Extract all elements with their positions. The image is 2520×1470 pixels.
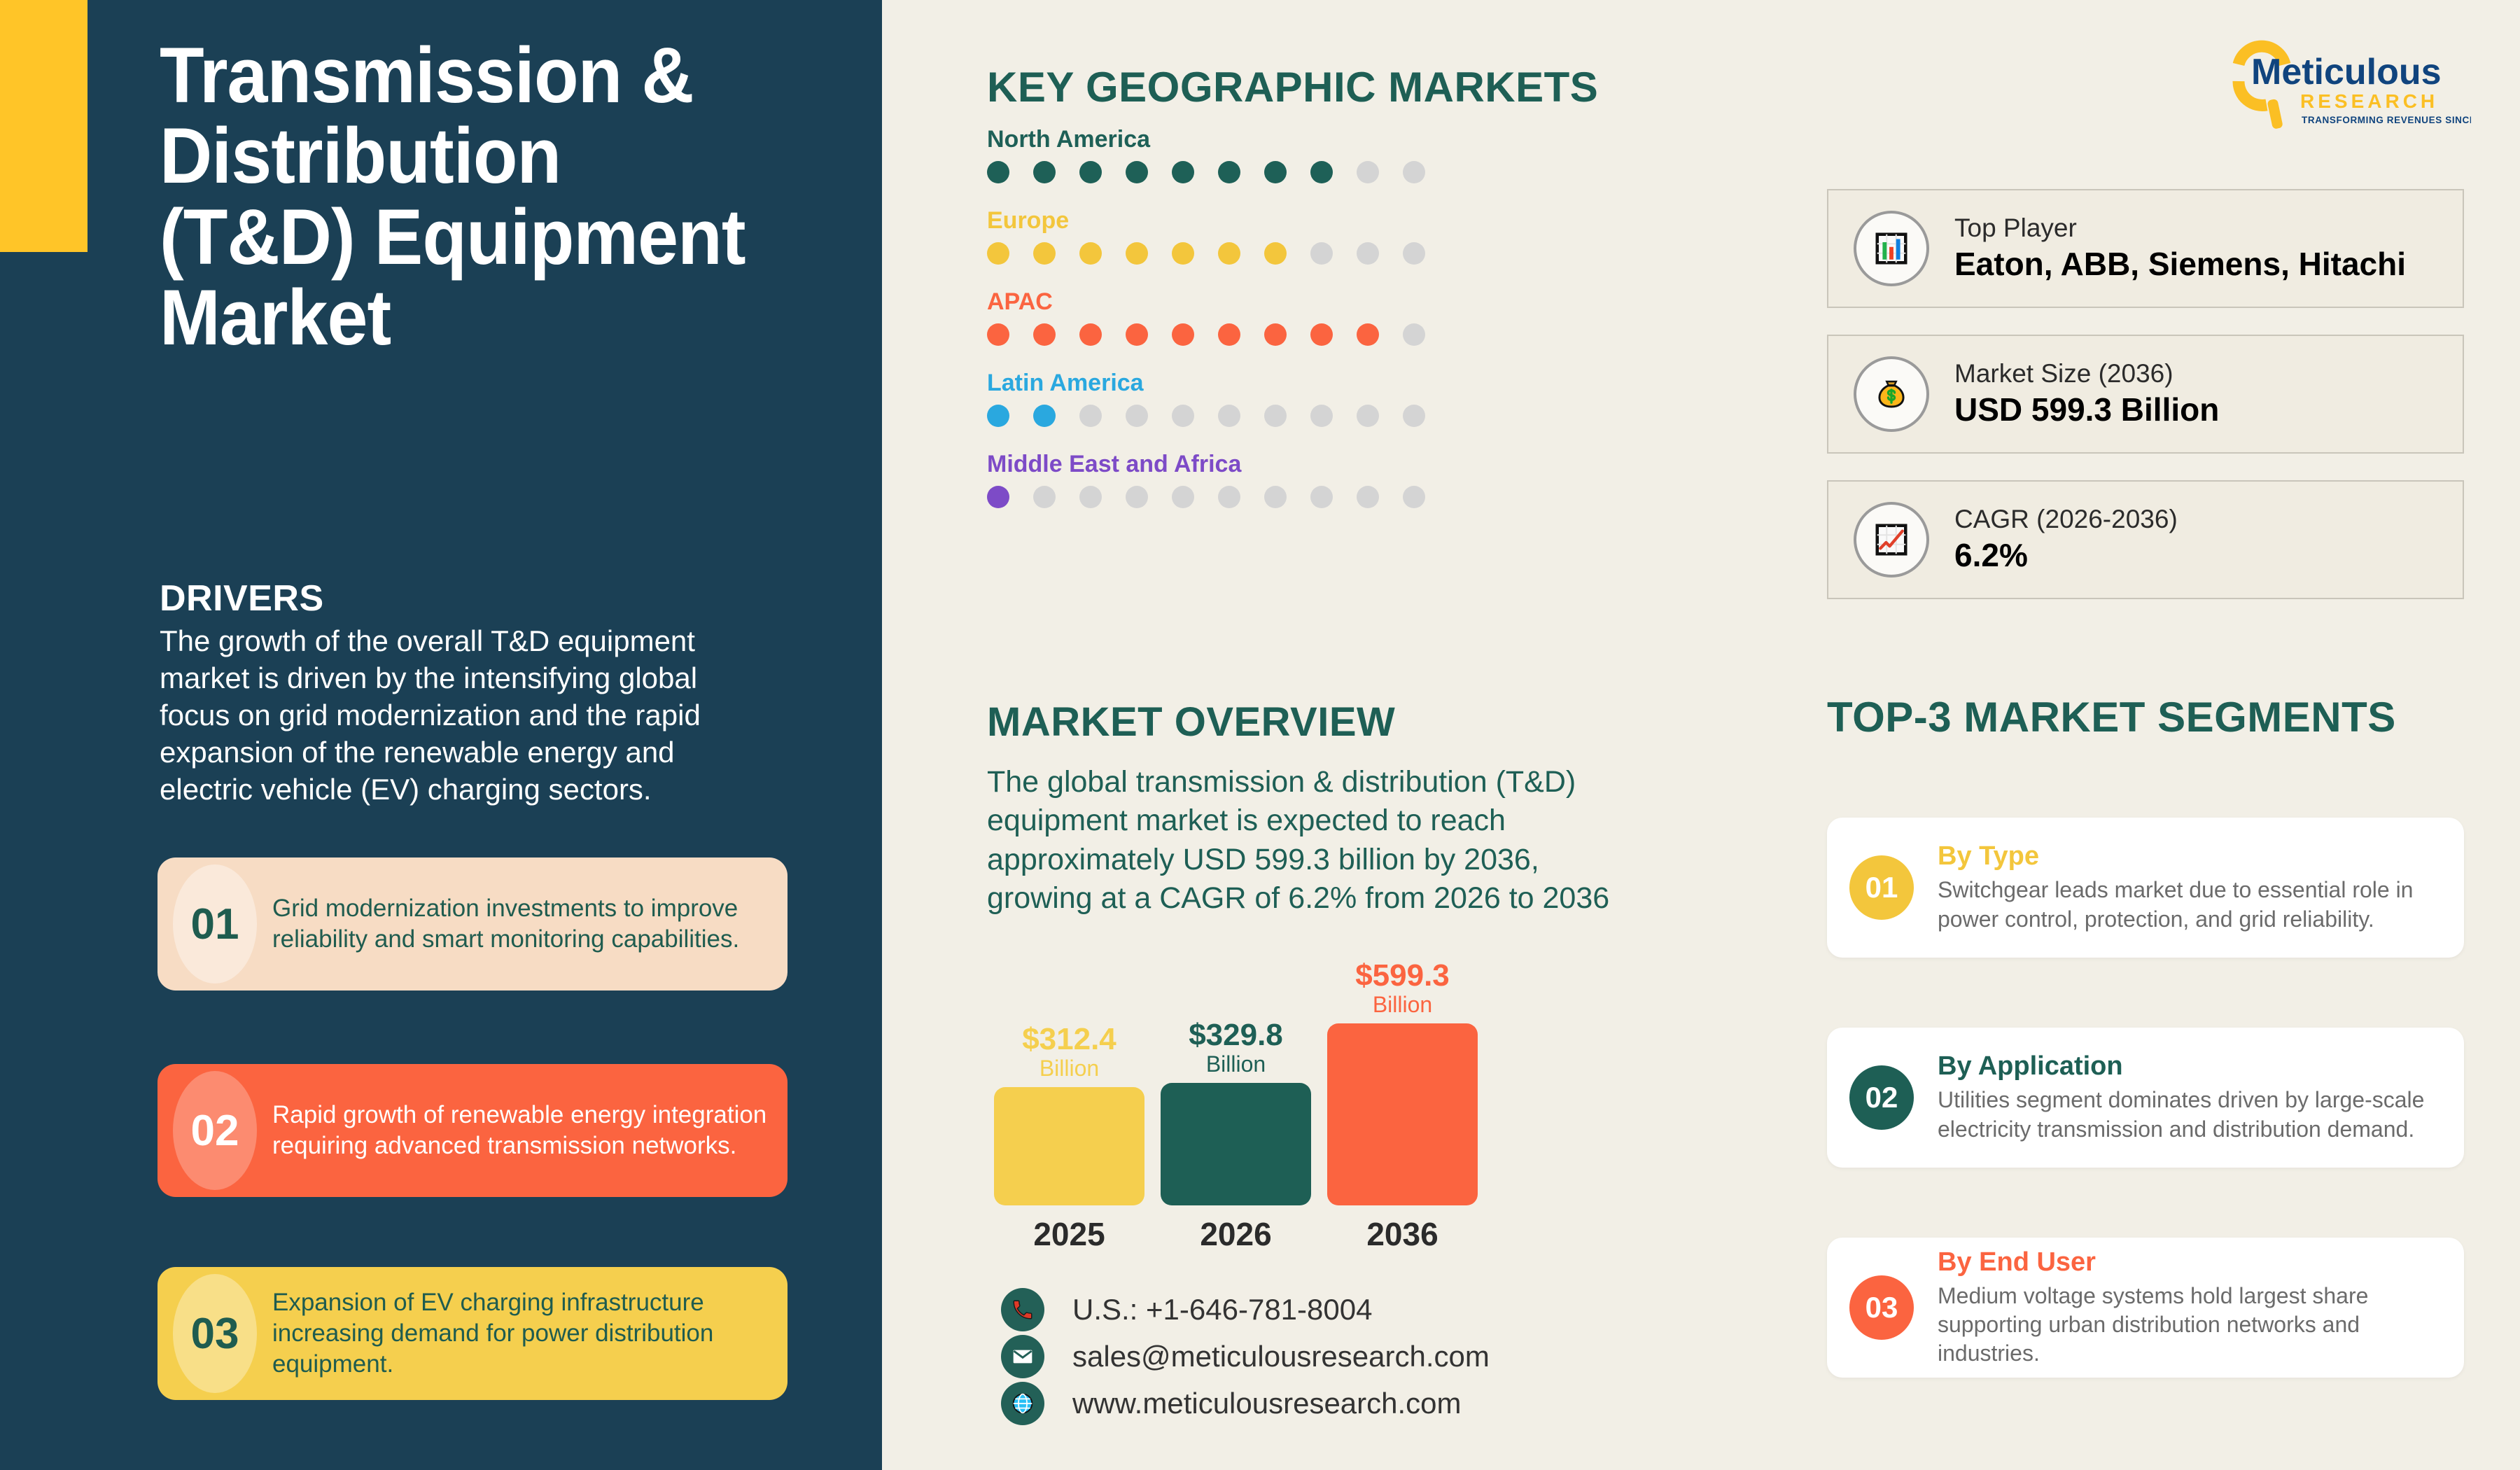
geo-dot-empty [1310,486,1333,508]
contact-text: U.S.: +1-646-781-8004 [1072,1293,1372,1326]
geo-dot-empty [1357,486,1379,508]
stat-label: CAGR (2026-2036) [1954,503,2178,535]
driver-number-badge: 02 [173,1071,257,1190]
segment-card[interactable]: 03By End UserMedium voltage systems hold… [1827,1238,2464,1378]
contact-row[interactable]: sales@meticulousresearch.com [1001,1335,1490,1378]
driver-text: Rapid growth of renewable energy integra… [257,1100,787,1161]
segments-heading: TOP-3 MARKET SEGMENTS [1827,693,2396,741]
segment-number-badge: 01 [1849,855,1914,920]
geo-dot-row [987,405,1425,427]
bar-category-label: 2036 [1327,1215,1478,1253]
geo-dot-empty [1079,405,1102,427]
segment-body: By TypeSwitchgear leads market due to es… [1938,841,2464,934]
geo-dot-filled [987,405,1009,427]
segment-card[interactable]: 01By TypeSwitchgear leads market due to … [1827,818,2464,958]
segment-body: By End UserMedium voltage systems hold l… [1938,1247,2464,1368]
geo-region-label: APAC [987,288,1425,316]
geo-region: APAC [987,288,1425,346]
geo-dot-empty [1310,242,1333,265]
geo-dot-empty [1033,486,1056,508]
bar-chart-icon [1854,211,1929,286]
driver-text: Grid modernization investments to improv… [257,893,787,955]
segment-card[interactable]: 02By ApplicationUtilities segment domina… [1827,1028,2464,1168]
driver-number-badge: 01 [173,864,257,983]
geo-dot-filled [1357,323,1379,346]
stat-label: Top Player [1954,212,2406,244]
bar-unit-label: Billion [1327,991,1478,1018]
segment-number-badge: 02 [1849,1065,1914,1130]
market-overview-text: The global transmission & distribution (… [987,763,1652,918]
geo-region: North America [987,126,1425,183]
accent-bar [0,0,87,252]
stat-card[interactable]: Top PlayerEaton, ABB, Siemens, Hitachi [1827,189,2464,308]
geo-dot-filled [1218,161,1240,183]
bar-value-label: $329.8 [1161,1020,1311,1051]
geo-dot-empty [1357,242,1379,265]
segment-description: Medium voltage systems hold largest shar… [1938,1282,2443,1368]
stat-card[interactable]: Market Size (2036)USD 599.3 Billion [1827,335,2464,454]
geo-region-label: Middle East and Africa [987,451,1425,478]
bar-unit-label: Billion [994,1055,1144,1081]
driver-text: Expansion of EV charging infrastructure … [257,1287,787,1380]
geo-dot-filled [1126,323,1148,346]
segment-description: Utilities segment dominates driven by la… [1938,1086,2443,1144]
stat-body: Market Size (2036)USD 599.3 Billion [1954,358,2219,430]
geo-dot-empty [1403,323,1425,346]
bar-category-label: 2025 [994,1215,1144,1253]
geo-dot-filled [1033,161,1056,183]
segment-description: Switchgear leads market due to essential… [1938,876,2443,934]
contact-text: www.meticulousresearch.com [1072,1387,1462,1420]
geo-dot-empty [1172,486,1194,508]
driver-card[interactable]: 02 Rapid growth of renewable energy inte… [157,1064,787,1197]
drivers-heading: DRIVERS [160,577,324,619]
geo-dot-filled [1079,323,1102,346]
contact-row[interactable]: www.meticulousresearch.com [1001,1382,1462,1425]
contact-row[interactable]: U.S.: +1-646-781-8004 [1001,1288,1372,1331]
geo-dot-row [987,486,1425,508]
market-size-bar-chart: $312.4Billion2025$329.8Billion2026$599.3… [994,931,1512,1260]
geo-dot-empty [1403,242,1425,265]
geo-dot-filled [1310,323,1333,346]
geo-dot-filled [1172,242,1194,265]
geo-region: Latin America [987,370,1425,427]
segment-body: By ApplicationUtilities segment dominate… [1938,1051,2464,1144]
stat-value: Eaton, ABB, Siemens, Hitachi [1954,244,2406,285]
geo-dot-filled [1172,323,1194,346]
stat-body: Top PlayerEaton, ABB, Siemens, Hitachi [1954,212,2406,285]
page-title: Transmission & Distribution (T&D) Equipm… [160,35,745,358]
segment-number-badge: 03 [1849,1275,1914,1340]
geo-dot-filled [1033,323,1056,346]
bar-value-label: $312.4 [994,1024,1144,1055]
geo-region: Europe [987,207,1425,265]
geo-dot-row [987,242,1425,265]
stat-label: Market Size (2036) [1954,358,2219,390]
bar-column: $599.3Billion [1327,960,1478,1205]
geo-dot-empty [1218,405,1240,427]
bar-column: $312.4Billion [994,1024,1144,1205]
geo-dot-empty [1126,486,1148,508]
geo-dot-empty [1264,405,1287,427]
segment-title: By End User [1938,1247,2443,1277]
geo-dot-filled [1079,242,1102,265]
logo-tagline: TRANSFORMING REVENUES SINCE 2010 [2302,115,2471,125]
bar-category-label: 2026 [1161,1215,1311,1253]
geo-dot-filled [1033,242,1056,265]
geo-dot-filled [1264,161,1287,183]
geo-region-label: North America [987,126,1425,153]
geo-dot-row [987,323,1425,346]
globe-icon [1001,1382,1044,1425]
market-overview-heading: MARKET OVERVIEW [987,699,1395,745]
geo-dot-empty [1079,486,1102,508]
contact-text: sales@meticulousresearch.com [1072,1340,1490,1373]
geo-dot-filled [987,242,1009,265]
geo-dot-empty [1357,405,1379,427]
driver-number-badge: 03 [173,1274,257,1393]
geo-dot-empty [1403,161,1425,183]
geo-dot-filled [1264,242,1287,265]
geo-dot-filled [987,486,1009,508]
email-icon [1001,1335,1044,1378]
meticulous-research-logo: Meticulous RESEARCH TRANSFORMING REVENUE… [2212,35,2471,129]
geo-dot-filled [1033,405,1056,427]
geo-dot-filled [1126,161,1148,183]
geo-dot-empty [1126,405,1148,427]
stat-body: CAGR (2026-2036)6.2% [1954,503,2178,576]
geo-dot-filled [1172,161,1194,183]
stat-value: 6.2% [1954,535,2178,576]
logo-svg: Meticulous RESEARCH TRANSFORMING REVENUE… [2212,35,2471,129]
bar-unit-label: Billion [1161,1051,1311,1077]
geo-dot-empty [1403,405,1425,427]
left-panel: Transmission & Distribution (T&D) Equipm… [0,0,882,1470]
bar-column: $329.8Billion [1161,1020,1311,1205]
segment-title: By Application [1938,1051,2443,1081]
geo-dot-empty [1310,405,1333,427]
logo-research: RESEARCH [2300,90,2438,112]
geo-dot-filled [987,323,1009,346]
geo-dot-filled [1126,242,1148,265]
geo-dot-empty [1172,405,1194,427]
geo-dot-empty [1218,486,1240,508]
geo-dot-row [987,161,1425,183]
bar-rect [1161,1083,1311,1205]
bar-value-label: $599.3 [1327,960,1478,991]
geo-dot-filled [1310,161,1333,183]
driver-card[interactable]: 01 Grid modernization investments to imp… [157,857,787,990]
bar-rect [994,1087,1144,1205]
geo-dot-filled [987,161,1009,183]
driver-card[interactable]: 03 Expansion of EV charging infrastructu… [157,1267,787,1400]
geo-region: Middle East and Africa [987,451,1425,508]
geo-dot-empty [1403,486,1425,508]
geo-dot-filled [1218,323,1240,346]
money-bag-icon [1854,356,1929,432]
logo-wordmark: Meticulous [2251,52,2442,92]
geo-dot-empty [1357,161,1379,183]
geo-dot-filled [1218,242,1240,265]
stat-value: USD 599.3 Billion [1954,390,2219,430]
geo-dot-filled [1264,323,1287,346]
geographic-markets-heading: KEY GEOGRAPHIC MARKETS [987,63,1598,111]
segment-title: By Type [1938,841,2443,871]
geo-region-label: Europe [987,207,1425,234]
geo-dot-filled [1079,161,1102,183]
stat-card[interactable]: CAGR (2026-2036)6.2% [1827,480,2464,599]
bar-rect [1327,1023,1478,1205]
phone-icon [1001,1288,1044,1331]
trend-up-icon [1854,502,1929,577]
geo-region-label: Latin America [987,370,1425,397]
geo-dot-empty [1264,486,1287,508]
magnifier-handle [2267,99,2283,129]
drivers-intro-text: The growth of the overall T&D equipment … [160,623,713,808]
